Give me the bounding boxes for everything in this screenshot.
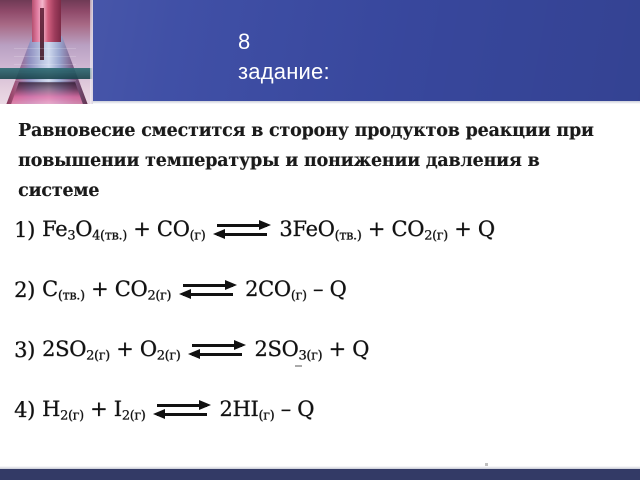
equation-row: 3) 2SO2(г) + O2(г) 2SO3(г) + Q [14,320,624,380]
slide-body: Равновесие сместится в сторону продуктов… [0,104,640,469]
equation-right-side: 2CO(г) – Q [245,277,346,304]
equation-left-side: 2SO2(г) + O2(г) [42,337,180,364]
equation-row: 1) Fe3O4(тв.) + CO(г) 3FeO(тв.) + CO2(г)… [14,200,624,260]
flask-counter-surface [0,68,93,79]
footer-bar [0,469,640,480]
equilibrium-arrow-icon [179,280,237,300]
equation-left-side: Fe3O4(тв.) + CO(г) [42,217,205,244]
flask-photo-right-edge [90,0,93,113]
flask-neck [32,0,61,42]
equation-left-side: C(тв.) + CO2(г) [42,277,171,304]
equation-index: 3) [14,338,35,362]
presentation-slide: 8 задание: Равновесие сместится в сторон… [0,0,640,480]
equation-index: 1) [14,218,35,242]
equilibrium-arrow-icon [153,400,211,420]
equation-left-side: H2(г) + I2(г) [42,397,145,424]
equation-row: 2) C(тв.) + CO2(г) 2CO(г) – Q [14,260,624,320]
equation-index: 2) [14,278,35,302]
equation-row: 4) H2(г) + I2(г) 2HI(г) – Q [14,380,624,440]
slide-title-line-1: 8 [238,27,618,57]
slide-title-line-2: задание: [238,57,618,87]
scan-artifact [295,365,302,367]
equation-right-side: 2SO3(г) + Q [254,337,369,364]
question-statement: Равновесие сместится в сторону продуктов… [18,116,618,206]
equilibrium-arrow-icon [213,220,271,240]
equation-right-side: 3FeO(тв.) + CO2(г) + Q [279,217,494,244]
equation-index: 4) [14,398,35,422]
equilibrium-arrow-icon [188,340,246,360]
chemistry-flask-photo [0,0,93,113]
slide-title: 8 задание: [238,27,618,87]
equation-list: 1) Fe3O4(тв.) + CO(г) 3FeO(тв.) + CO2(г)… [14,200,624,440]
equation-right-side: 2HI(г) – Q [219,397,314,424]
